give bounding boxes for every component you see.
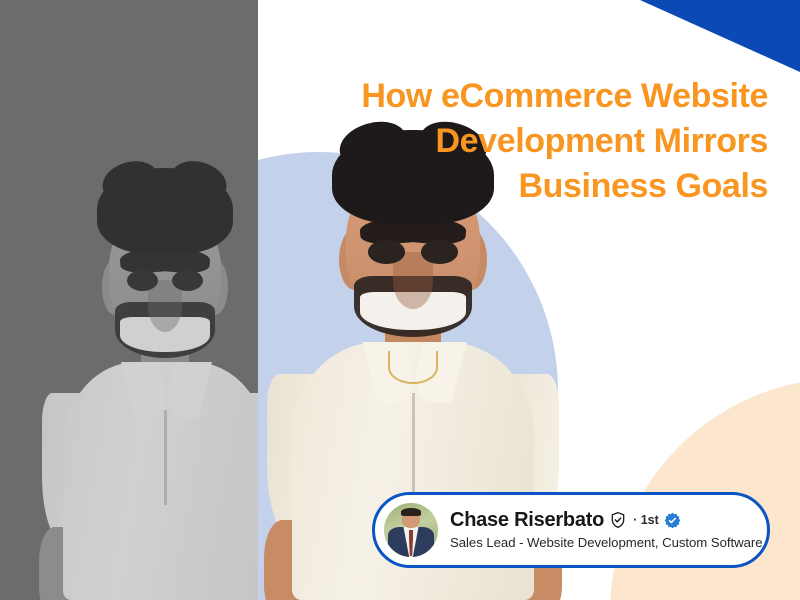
portrait-eye-left xyxy=(368,240,405,264)
promo-graphic-canvas: How eCommerce Website Development Mirror… xyxy=(0,0,800,600)
shield-check-icon[interactable] xyxy=(609,511,627,529)
headline-line-2: Development Mirrors xyxy=(298,119,768,164)
avatar[interactable] xyxy=(384,503,438,557)
profile-card[interactable]: Chase Riserbato · 1st Sales Lead - Websi… xyxy=(372,492,770,568)
headline-line-3: Business Goals xyxy=(298,164,768,209)
profile-name: Chase Riserbato xyxy=(450,510,604,530)
verified-badge-icon[interactable] xyxy=(664,512,681,529)
portrait-placket xyxy=(164,410,167,505)
portrait-eye-right xyxy=(421,240,458,264)
avatar-hair xyxy=(401,508,422,516)
portrait-hair xyxy=(97,168,233,254)
grayscale-portrait xyxy=(34,168,258,600)
profile-subtitle: Sales Lead - Website Development, Custom… xyxy=(450,535,753,550)
headline-line-1: How eCommerce Website xyxy=(298,74,768,119)
gray-left-panel xyxy=(0,0,258,600)
profile-name-row: Chase Riserbato · 1st xyxy=(450,510,753,530)
portrait-placket xyxy=(412,393,415,496)
blue-triangle-top-right xyxy=(640,0,800,72)
profile-text-block: Chase Riserbato · 1st Sales Lead - Websi… xyxy=(450,510,753,550)
portrait-necklace xyxy=(388,351,438,384)
headline: How eCommerce Website Development Mirror… xyxy=(298,74,768,209)
connection-degree: · 1st xyxy=(633,514,659,527)
portrait-eye-right xyxy=(172,270,203,292)
